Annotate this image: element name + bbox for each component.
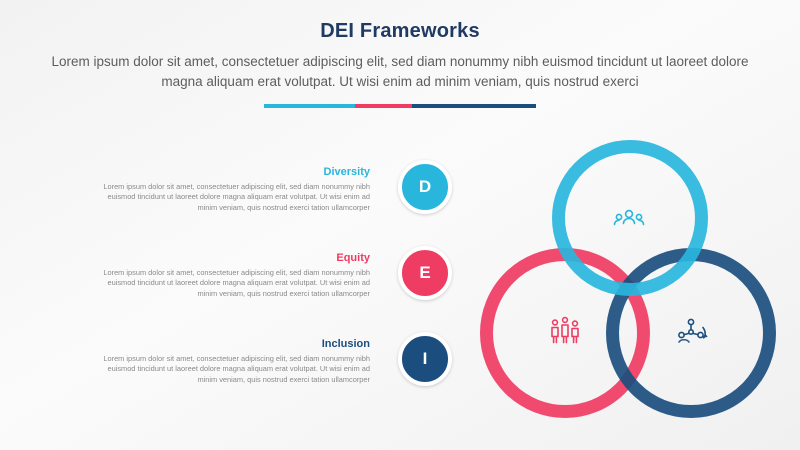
list-item[interactable]: Equity Lorem ipsum dolor sit amet, conse… — [40, 246, 452, 332]
header-divider — [264, 104, 536, 108]
framework-list: Diversity Lorem ipsum dolor sit amet, co… — [40, 160, 452, 418]
venn-diagram — [470, 140, 790, 430]
page-subtitle: Lorem ipsum dolor sit amet, consectetuer… — [50, 52, 750, 92]
item-letter-badge[interactable]: I — [398, 332, 452, 386]
infographic-canvas: DEI Frameworks Lorem ipsum dolor sit ame… — [0, 0, 800, 450]
item-letter-badge[interactable]: D — [398, 160, 452, 214]
people-group-icon — [612, 202, 646, 236]
item-text-block: Inclusion Lorem ipsum dolor sit amet, co… — [90, 338, 370, 385]
page-title: DEI Frameworks — [0, 20, 800, 43]
divider-segment-inclusion — [412, 104, 536, 108]
item-category-label: Diversity — [90, 166, 370, 178]
item-text-block: Diversity Lorem ipsum dolor sit amet, co… — [90, 166, 370, 213]
list-item[interactable]: Inclusion Lorem ipsum dolor sit amet, co… — [40, 332, 452, 418]
people-steps-icon — [548, 315, 582, 349]
list-item[interactable]: Diversity Lorem ipsum dolor sit amet, co… — [40, 160, 452, 246]
item-description: Lorem ipsum dolor sit amet, consectetuer… — [90, 268, 370, 299]
item-description: Lorem ipsum dolor sit amet, consectetuer… — [90, 354, 370, 385]
item-letter-badge[interactable]: E — [398, 246, 452, 300]
item-category-label: Inclusion — [90, 338, 370, 350]
divider-segment-diversity — [264, 104, 355, 108]
item-description: Lorem ipsum dolor sit amet, consectetuer… — [90, 182, 370, 213]
network-people-icon — [674, 315, 708, 349]
item-category-label: Equity — [90, 252, 370, 264]
divider-segment-equity — [355, 104, 412, 108]
item-text-block: Equity Lorem ipsum dolor sit amet, conse… — [90, 252, 370, 299]
